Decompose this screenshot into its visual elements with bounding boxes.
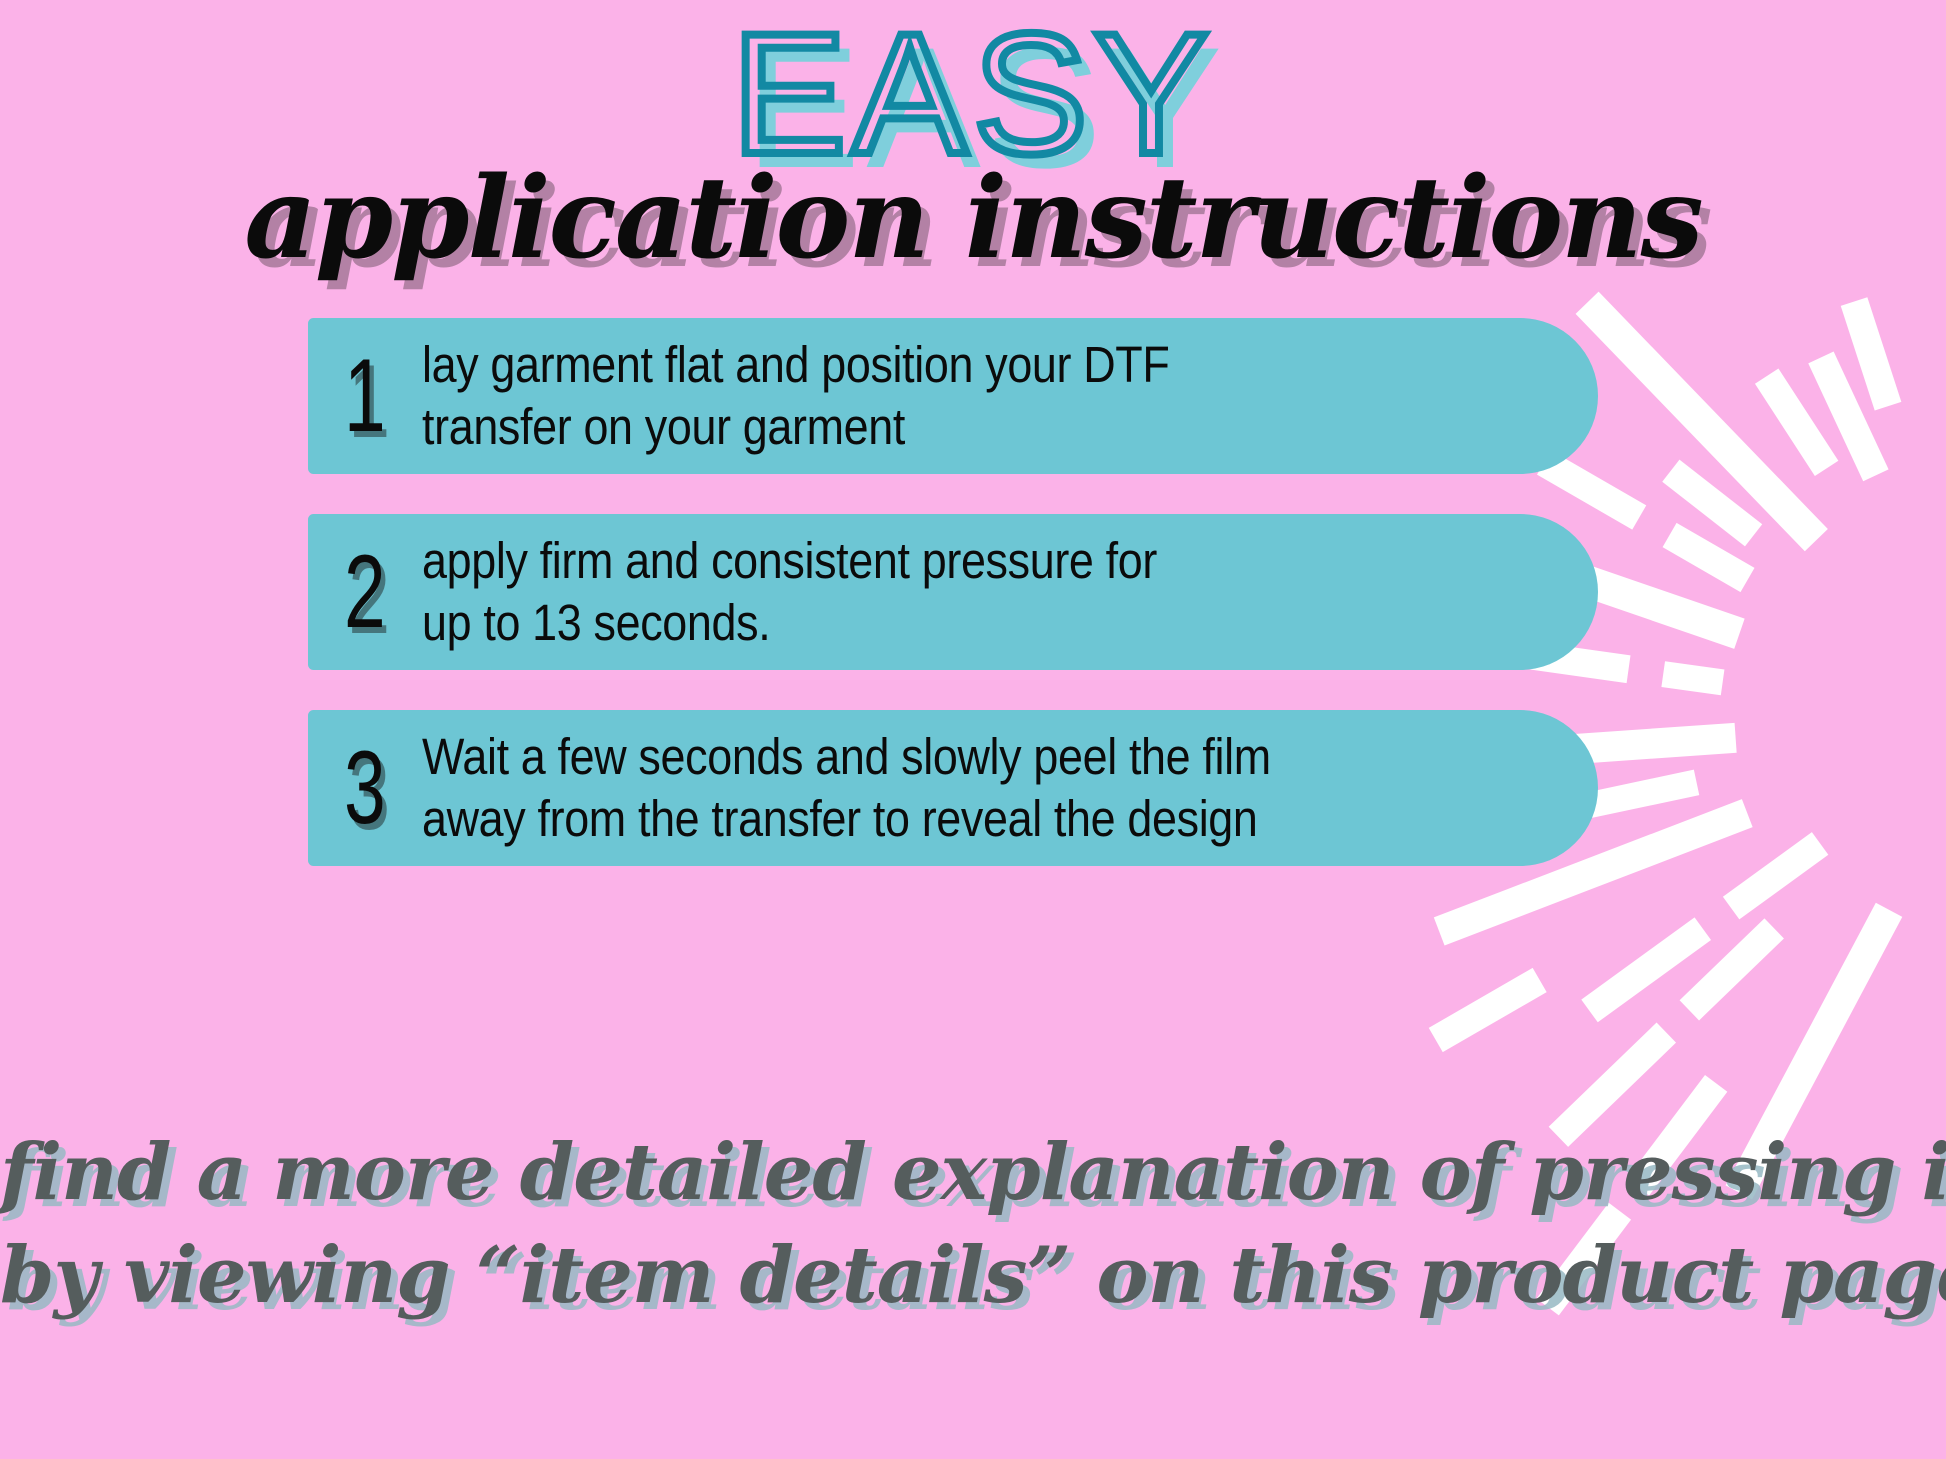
sunburst-ray: [1670, 535, 1748, 580]
page-subtitle-text: application instructions: [0, 160, 1946, 278]
step-number-2: 2: [344, 540, 406, 644]
sunburst-ray: [1767, 376, 1827, 468]
step-text-1: lay garment flat and position your DTF t…: [422, 334, 1457, 458]
step-row-2: 2 apply firm and consistent pressure for…: [308, 514, 1598, 670]
sunburst-ray: [1436, 980, 1540, 1040]
step-number-3: 3: [344, 736, 406, 840]
sunburst-ray: [1587, 303, 1816, 540]
step-row-1: 1 lay garment flat and position your DTF…: [308, 318, 1598, 474]
step-row-3: 3 Wait a few seconds and slowly peel the…: [308, 710, 1598, 866]
sunburst-ray: [1671, 471, 1754, 536]
step-text-3: Wait a few seconds and slowly peel the f…: [422, 726, 1457, 850]
step-text-2: apply firm and consistent pressure for u…: [422, 530, 1457, 654]
sunburst-ray: [1854, 302, 1888, 407]
sunburst-ray: [1731, 843, 1820, 908]
footer-note: find a more detailed explanation of pres…: [0, 1122, 1946, 1328]
footer-line-2: by viewing “item details” on this produc…: [0, 1225, 1946, 1328]
poster-canvas: EASY EASY application instructions 1 lay…: [0, 0, 1946, 1459]
sunburst-ray: [1663, 674, 1722, 682]
sunburst-ray: [1590, 929, 1703, 1011]
step-number-1: 1: [344, 344, 406, 448]
footer-line-1: find a more detailed explanation of pres…: [0, 1122, 1946, 1225]
steps-list: 1 lay garment flat and position your DTF…: [308, 318, 1598, 906]
page-subtitle: application instructions: [0, 160, 1946, 278]
sunburst-ray: [1689, 928, 1774, 1010]
sunburst-ray: [1821, 357, 1876, 475]
